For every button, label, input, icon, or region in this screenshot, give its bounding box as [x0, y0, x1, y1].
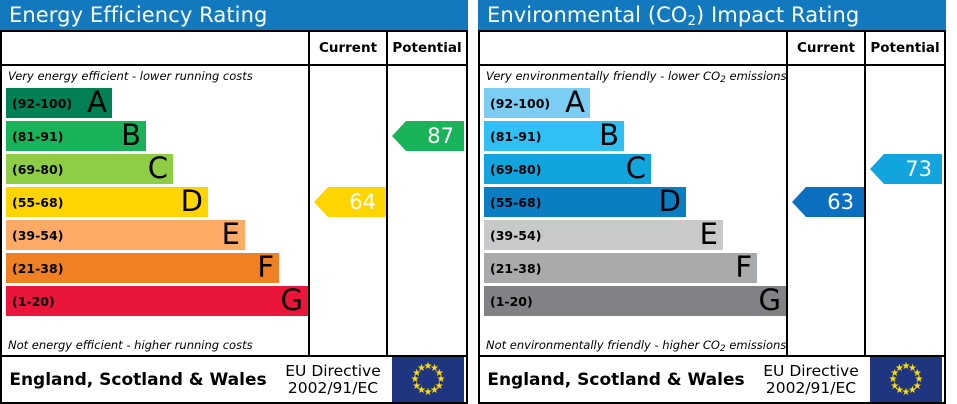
band-range-label: (39-54)	[6, 228, 63, 243]
rating-band-list: (92-100)A(81-91)B(69-80)C(55-68)D(39-54)…	[484, 88, 786, 319]
band-letter-label: A	[87, 88, 107, 117]
column-divider-potential	[864, 66, 866, 355]
epc-charts-page: Energy Efficiency Rating Current Potenti…	[0, 0, 957, 404]
footer-region-label: England, Scotland & Wales	[2, 370, 274, 390]
eu-flag-icon: ★★★★★★★★★★★★	[870, 357, 942, 402]
column-header-potential: Potential	[386, 32, 466, 64]
rating-band-f: (21-38)F	[6, 253, 279, 283]
band-range-label: (92-100)	[484, 96, 550, 111]
chart-title-co2: Environmental (CO2) Impact Rating	[478, 0, 946, 30]
rating-band-e: (39-54)E	[6, 220, 245, 250]
band-range-label: (81-91)	[6, 129, 63, 144]
eu-flag-star: ★	[417, 364, 426, 373]
rating-band-a: (92-100)A	[484, 88, 590, 118]
chart-title-subscript: 2	[688, 14, 696, 29]
chart-main-area: Very energy efficient - lower running co…	[2, 66, 466, 355]
current-rating-value: 64	[349, 190, 376, 214]
column-header-potential: Potential	[864, 32, 944, 64]
column-header-blank	[480, 32, 786, 64]
column-divider-current	[786, 66, 788, 355]
band-letter-label: B	[121, 121, 141, 150]
footer-region-label: England, Scotland & Wales	[480, 370, 752, 390]
rating-band-d: (55-68)D	[6, 187, 208, 217]
rating-band-f: (21-38)F	[484, 253, 757, 283]
chart-title-text: Environmental (CO	[487, 3, 688, 27]
footer-directive-line2: 2002/91/EC	[752, 380, 870, 397]
rating-band-g: (1-20)G	[6, 286, 308, 316]
band-range-label: (1-20)	[484, 294, 533, 309]
band-range-label: (69-80)	[6, 162, 63, 177]
column-header-row: Current Potential	[2, 32, 466, 66]
chart-footer: England, Scotland & Wales EU Directive 2…	[480, 355, 944, 402]
footer-directive-label: EU Directive 2002/91/EC	[274, 363, 392, 396]
band-range-label: (1-20)	[6, 294, 55, 309]
band-range-label: (69-80)	[484, 162, 541, 177]
eu-flag-star: ★	[895, 364, 904, 373]
footer-directive-line1: EU Directive	[752, 363, 870, 380]
band-range-label: (81-91)	[484, 129, 541, 144]
band-letter-label: A	[565, 88, 585, 117]
band-range-label: (55-68)	[484, 195, 541, 210]
band-letter-label: D	[659, 187, 681, 216]
footer-directive-line2: 2002/91/EC	[274, 380, 392, 397]
column-header-row: Current Potential	[480, 32, 944, 66]
footer-directive-label: EU Directive 2002/91/EC	[752, 363, 870, 396]
band-range-label: (55-68)	[6, 195, 63, 210]
chart-title-text: Energy Efficiency Rating	[9, 3, 267, 27]
chart-main-area: Very environmentally friendly - lower CO…	[480, 66, 944, 355]
rating-band-c: (69-80)C	[6, 154, 173, 184]
footer-directive-line1: EU Directive	[274, 363, 392, 380]
band-letter-label: D	[181, 187, 203, 216]
chart-title-tail: ) Impact Rating	[696, 3, 859, 27]
rating-band-d: (55-68)D	[484, 187, 686, 217]
band-range-label: (39-54)	[484, 228, 541, 243]
eu-flag-icon: ★★★★★★★★★★★★	[392, 357, 464, 402]
potential-rating-value: 87	[427, 124, 454, 148]
rating-band-list: (92-100)A(81-91)B(69-80)C(55-68)D(39-54)…	[6, 88, 308, 319]
rating-band-g: (1-20)G	[484, 286, 786, 316]
chart-body-co2: Current Potential Very environmentally f…	[478, 30, 946, 404]
rating-band-a: (92-100)A	[6, 88, 112, 118]
chart-footer: England, Scotland & Wales EU Directive 2…	[2, 355, 466, 402]
band-letter-label: C	[148, 154, 168, 183]
column-header-current: Current	[786, 32, 864, 64]
rating-band-b: (81-91)B	[6, 121, 146, 151]
band-range-label: (21-38)	[484, 261, 541, 276]
rating-band-b: (81-91)B	[484, 121, 624, 151]
caption-bottom: Not environmentally friendly - higher CO…	[486, 338, 786, 352]
energy-efficiency-rating-chart: Energy Efficiency Rating Current Potenti…	[0, 0, 468, 404]
column-header-current: Current	[308, 32, 386, 64]
band-letter-label: C	[626, 154, 646, 183]
band-range-label: (21-38)	[6, 261, 63, 276]
column-divider-current	[308, 66, 310, 355]
column-divider-potential	[386, 66, 388, 355]
band-letter-label: B	[599, 121, 619, 150]
band-letter-label: F	[735, 253, 752, 282]
band-letter-label: E	[222, 220, 240, 249]
rating-band-e: (39-54)E	[484, 220, 723, 250]
current-rating-arrow: 64	[314, 187, 386, 217]
column-header-blank	[2, 32, 308, 64]
current-rating-arrow: 63	[792, 187, 864, 217]
caption-top: Very energy efficient - lower running co…	[8, 69, 253, 83]
band-letter-label: F	[257, 253, 274, 282]
chart-body-energy: Current Potential Very energy efficient …	[0, 30, 468, 404]
band-letter-label: G	[759, 286, 781, 315]
rating-band-c: (69-80)C	[484, 154, 651, 184]
current-rating-value: 63	[827, 190, 854, 214]
chart-title-energy: Energy Efficiency Rating	[0, 0, 468, 30]
band-range-label: (92-100)	[6, 96, 72, 111]
caption-top: Very environmentally friendly - lower CO…	[486, 69, 787, 83]
band-letter-label: E	[700, 220, 718, 249]
potential-rating-arrow: 73	[870, 154, 942, 184]
caption-bottom: Not energy efficient - higher running co…	[8, 338, 253, 352]
potential-rating-arrow: 87	[392, 121, 464, 151]
potential-rating-value: 73	[905, 157, 932, 181]
environmental-co2-impact-rating-chart: Environmental (CO2) Impact Rating Curren…	[478, 0, 946, 404]
band-letter-label: G	[281, 286, 303, 315]
